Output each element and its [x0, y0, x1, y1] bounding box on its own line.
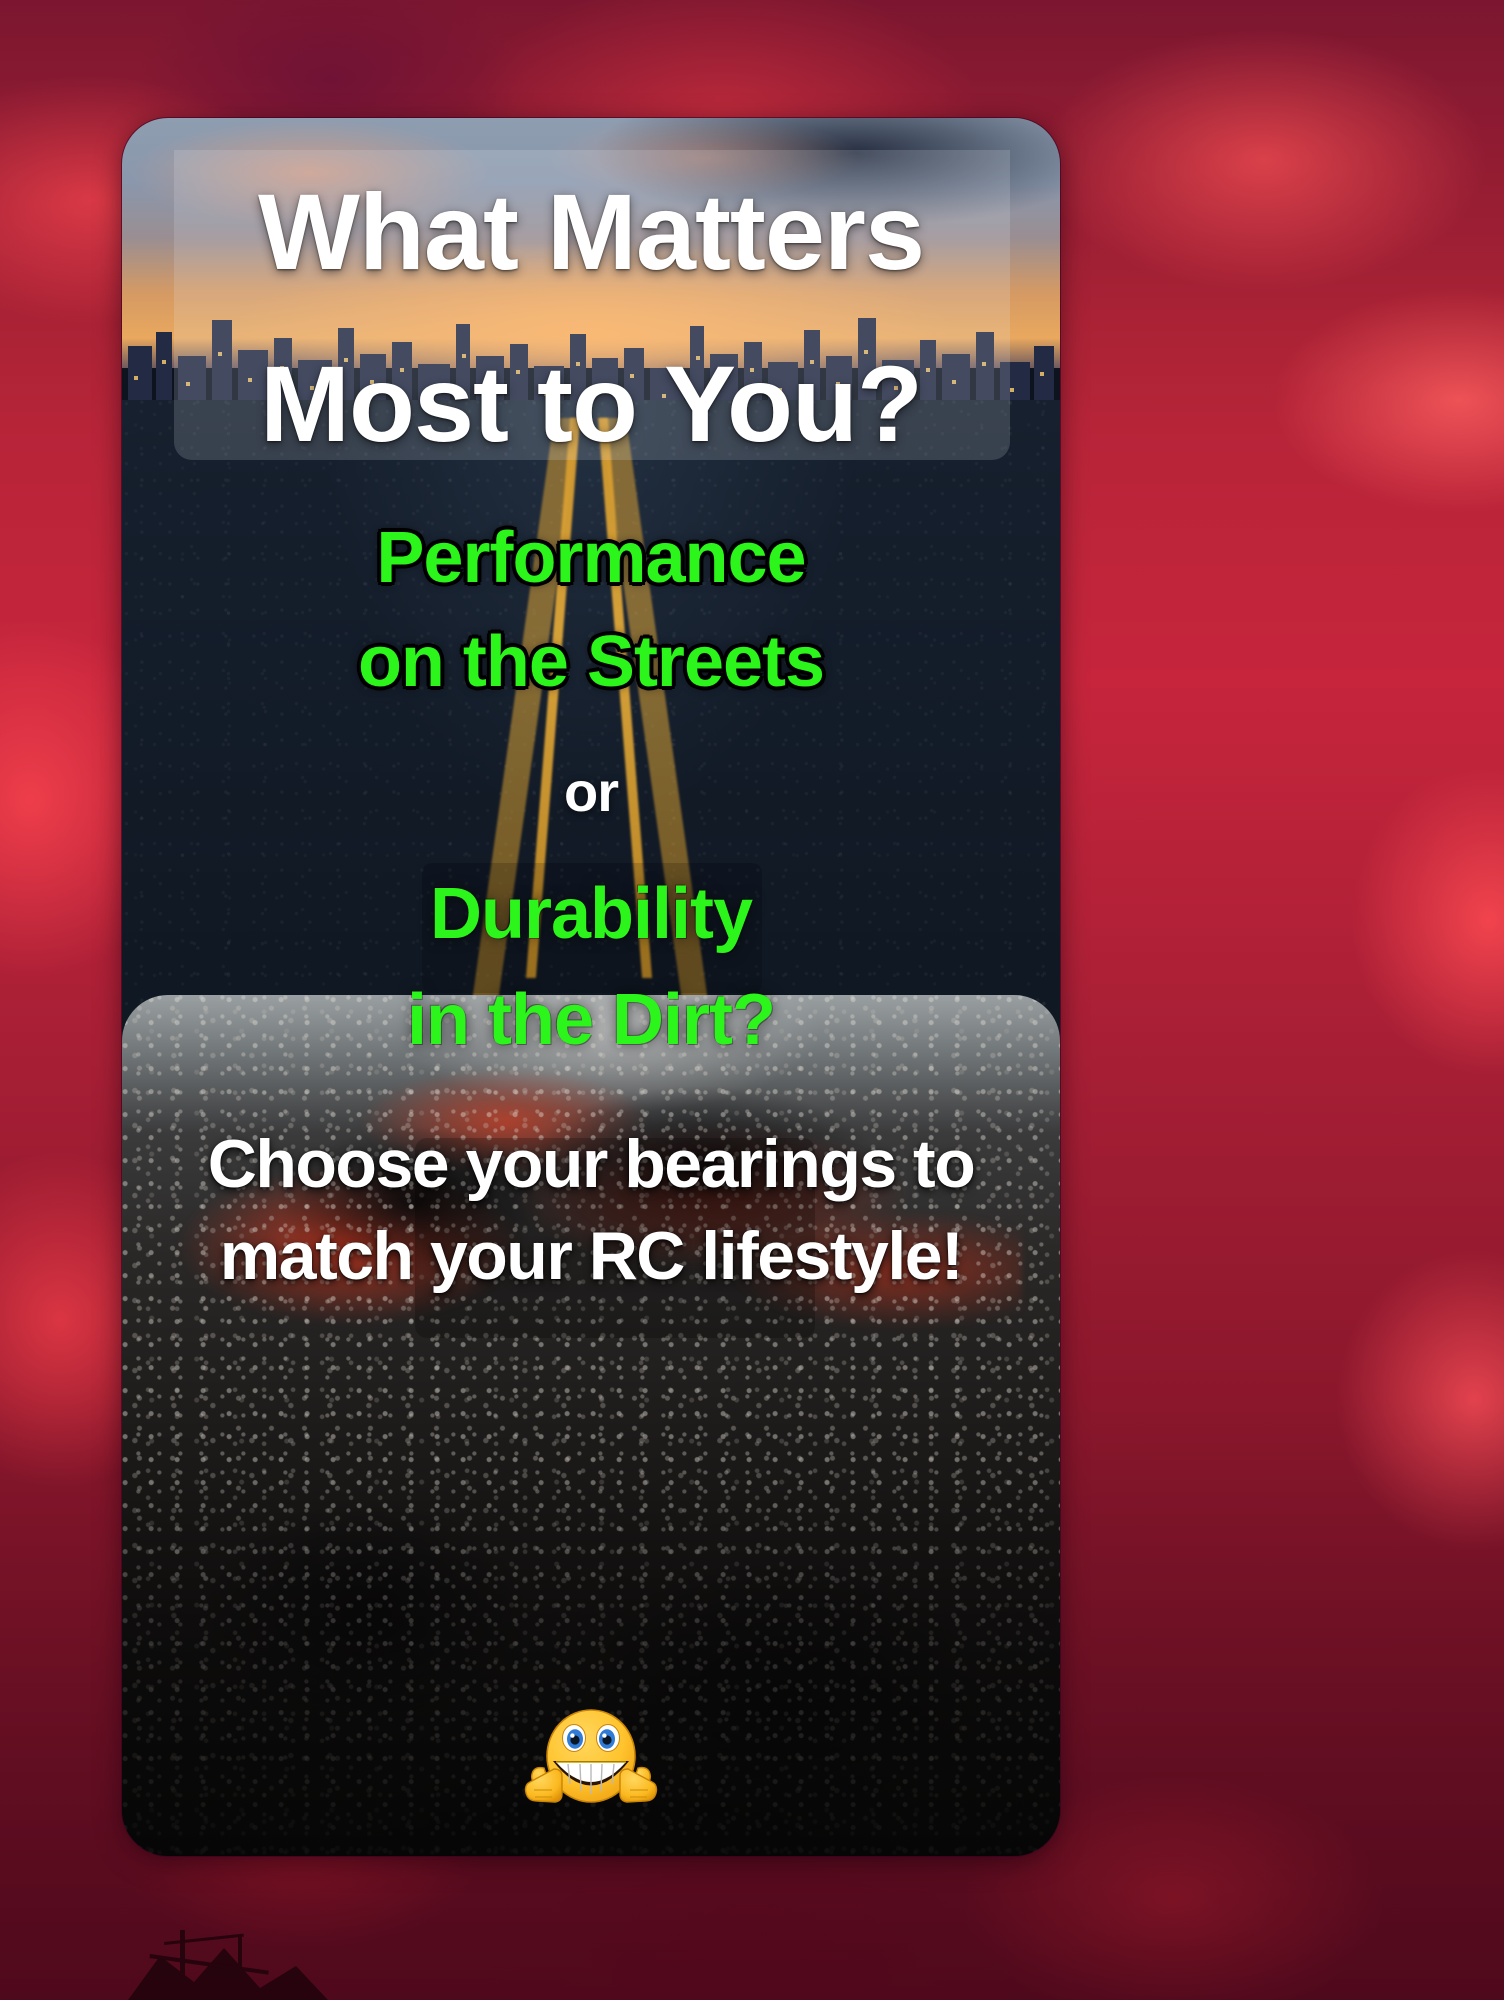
poster-card: What Matters Most to You? Performance on… [122, 118, 1060, 1856]
option-a-line-1: Performance [122, 522, 1060, 594]
option-b-line-2: in the Dirt? [122, 984, 1060, 1056]
headline-line-1: What Matters [122, 178, 1060, 286]
cta-line-2: match your RC lifestyle! [122, 1222, 1060, 1290]
option-b-line-1: Durability [122, 878, 1060, 950]
headline-line-2: Most to You? [122, 350, 1060, 458]
grinning-face-thumbs-up-emoji-icon [516, 1698, 666, 1828]
connector-word: or [122, 764, 1060, 820]
cta-line-1: Choose your bearings to [122, 1130, 1060, 1198]
option-a-line-2: on the Streets [122, 626, 1060, 698]
antenna-silhouette-icon [120, 1870, 380, 2000]
